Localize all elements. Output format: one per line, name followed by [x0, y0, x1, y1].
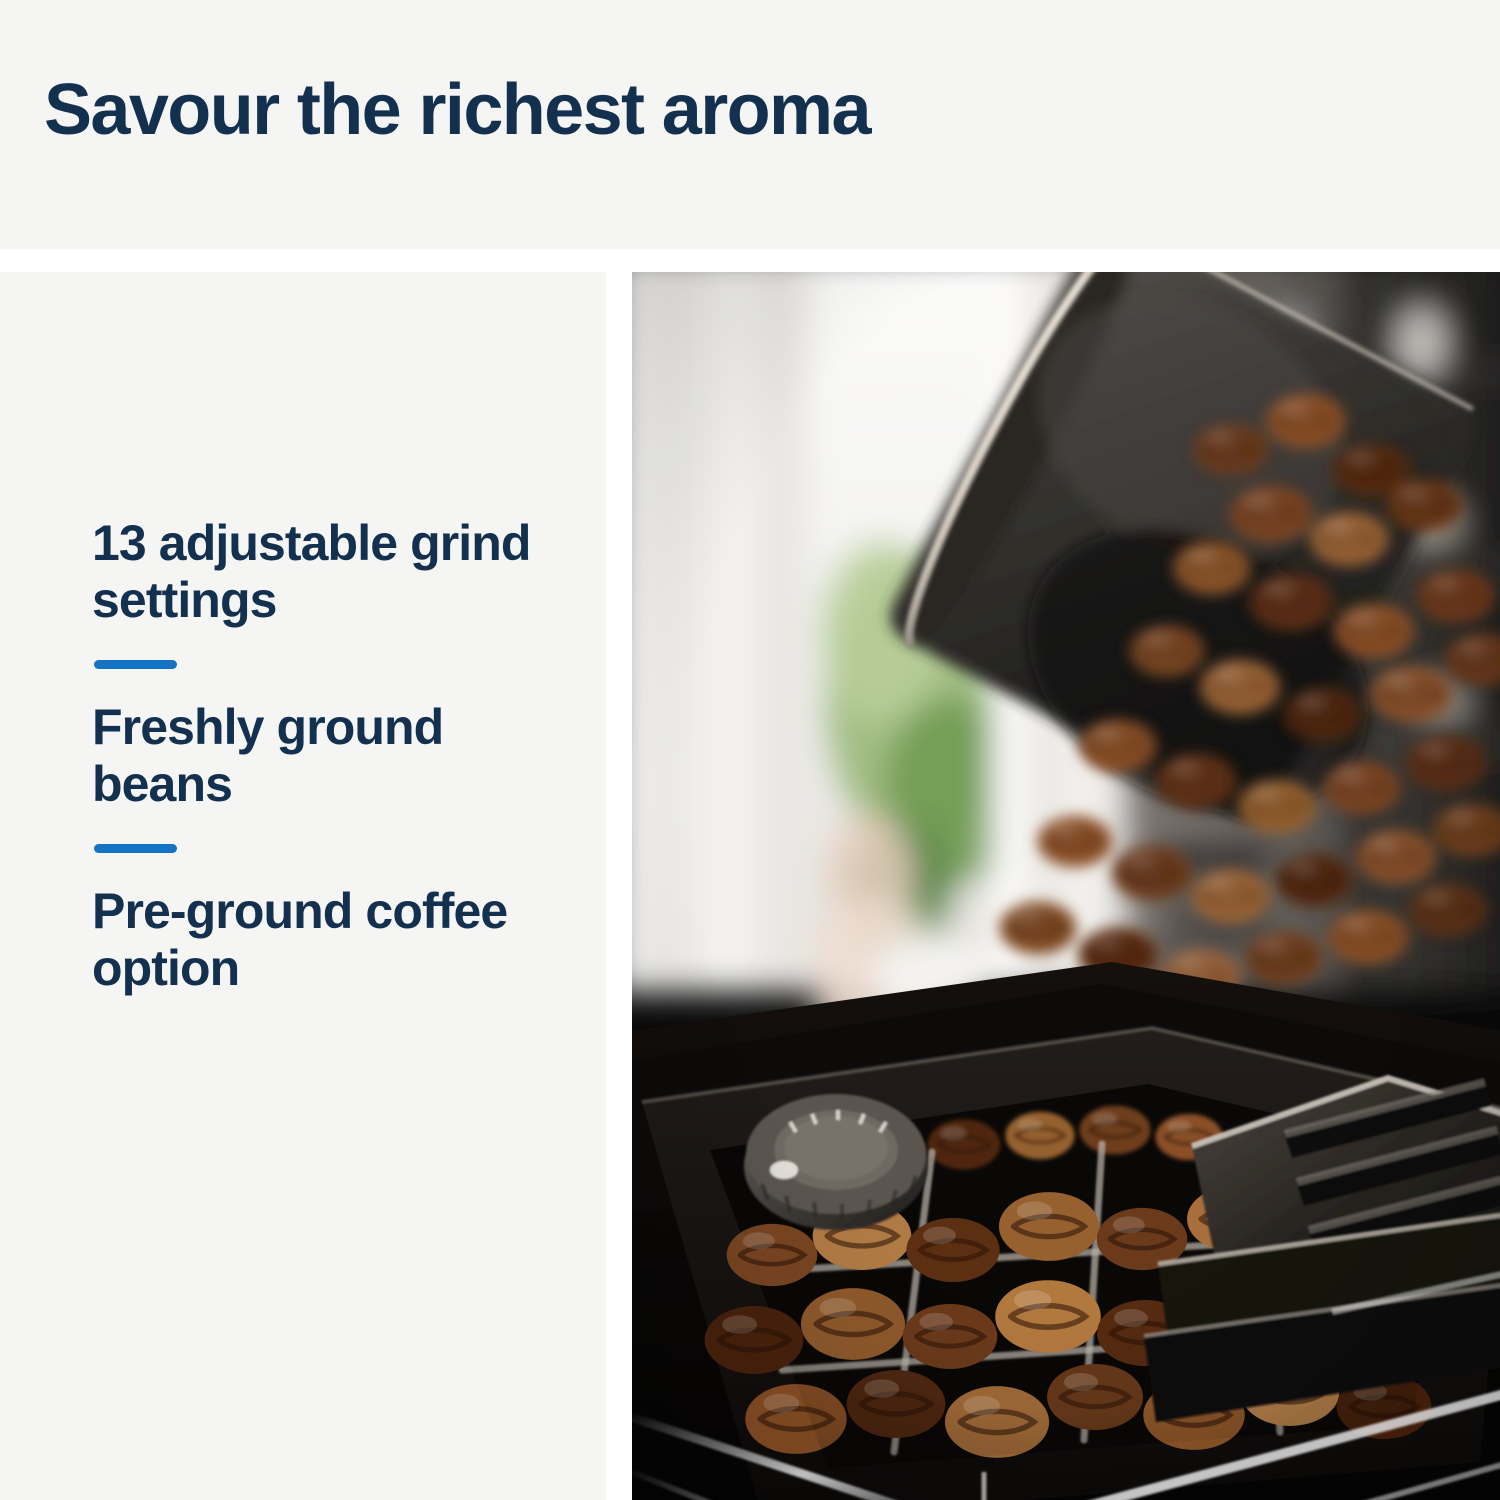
- promo-canvas: Savour the richest aroma 13 adjustable g…: [0, 0, 1500, 1500]
- feature-title-fresh-beans: Freshly ground beans: [92, 699, 562, 812]
- feature-title-grind-settings: 13 adjustable grind settings: [92, 515, 562, 628]
- product-photo: [632, 272, 1500, 1500]
- feature-divider-1: [94, 660, 177, 669]
- page-title: Savour the richest aroma: [44, 74, 870, 146]
- feature-divider-2: [94, 844, 177, 853]
- feature-title-pre-ground: Pre-ground coffee option: [92, 883, 562, 996]
- header-band: Savour the richest aroma: [0, 0, 1500, 249]
- features-panel: 13 adjustable grind settings Freshly gro…: [0, 272, 606, 1500]
- feature-list: 13 adjustable grind settings Freshly gro…: [92, 515, 562, 996]
